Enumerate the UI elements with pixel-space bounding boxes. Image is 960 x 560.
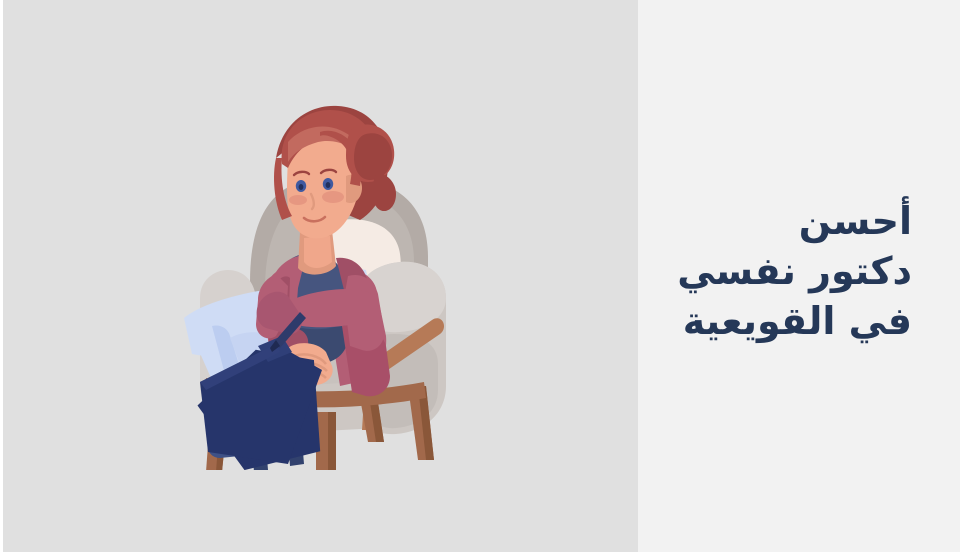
hair-bun-tail (373, 174, 396, 211)
headline-line-1: أحسن (662, 196, 912, 246)
eye-left-pupil (299, 184, 304, 190)
illustration-svg (170, 90, 470, 470)
headline-text: أحسن دكتور نفسي في القويعية (662, 196, 912, 346)
headline-line-2: دكتور نفسي (662, 246, 912, 296)
chair-leg-center-shade (328, 412, 336, 470)
illustration-woman-psychologist (170, 90, 470, 470)
eye-right-pupil (326, 182, 331, 188)
blush-right (322, 191, 344, 203)
headline-line-3: في القويعية (662, 296, 912, 346)
blush-left (289, 195, 307, 205)
banner-root: أحسن دكتور نفسي في القويعية (0, 0, 960, 560)
neck-highlight (304, 236, 332, 268)
